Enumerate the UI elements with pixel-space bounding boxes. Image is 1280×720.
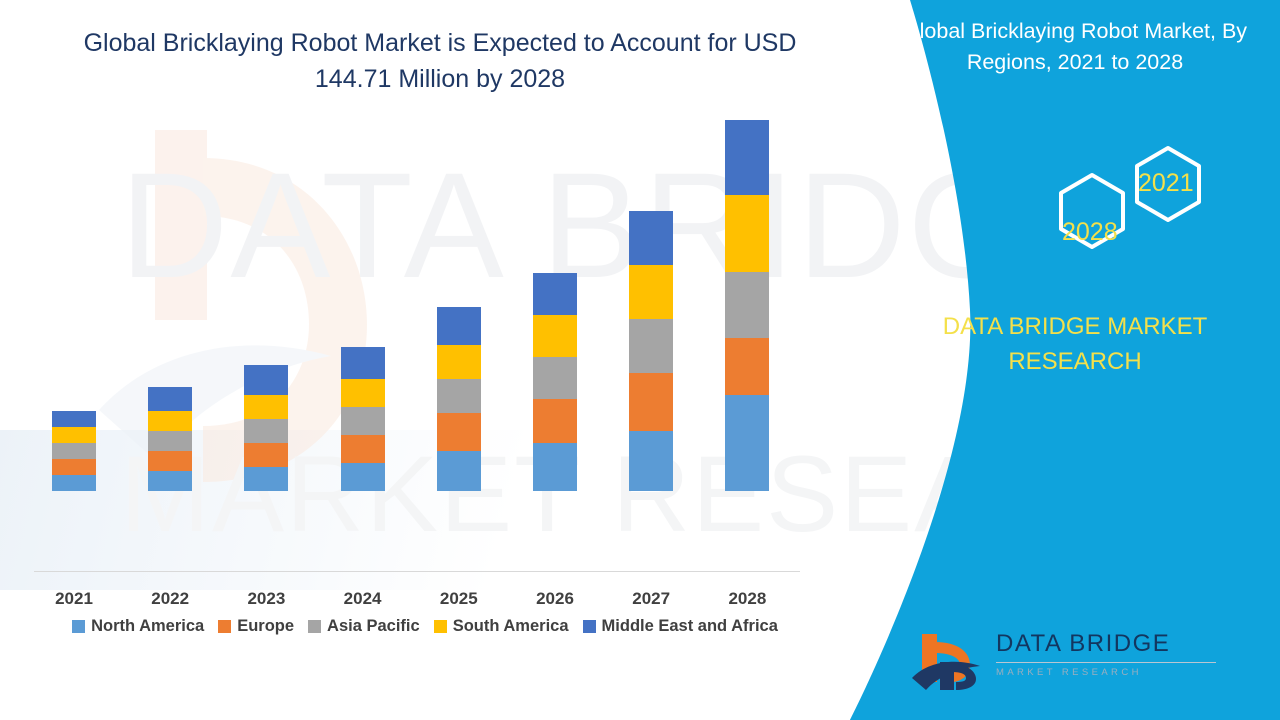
- segment-asia-pacific: [533, 357, 577, 399]
- segment-asia-pacific: [437, 379, 481, 413]
- segment-south-america: [244, 395, 288, 419]
- segment-south-america: [148, 411, 192, 431]
- x-label-2024: 2024: [318, 589, 408, 609]
- segment-asia-pacific: [244, 419, 288, 443]
- hex-label-2021: 2021: [1138, 169, 1194, 198]
- x-label-2023: 2023: [221, 589, 311, 609]
- segment-asia-pacific: [341, 407, 385, 435]
- segment-europe: [629, 373, 673, 431]
- segment-asia-pacific: [629, 319, 673, 373]
- segment-north-america: [244, 467, 288, 491]
- legend-item-south-america[interactable]: South America: [434, 617, 569, 636]
- brand-panel: Global Bricklaying Robot Market, By Regi…: [850, 0, 1280, 720]
- segment-middle-east-and-africa: [437, 307, 481, 345]
- segment-asia-pacific: [725, 272, 769, 338]
- segment-south-america: [52, 427, 96, 443]
- legend-item-north-america[interactable]: North America: [72, 617, 204, 636]
- bar-2027: [629, 211, 673, 491]
- data-bridge-logo-icon: [910, 628, 988, 694]
- segment-north-america: [52, 475, 96, 491]
- bar-2025: [437, 307, 481, 491]
- brand-line-1: DATA BRIDGE MARKET: [890, 310, 1260, 345]
- segment-middle-east-and-africa: [148, 387, 192, 411]
- legend-label: South America: [453, 617, 569, 636]
- hexagon-group: 2021 2028: [990, 140, 1250, 285]
- x-label-2026: 2026: [510, 589, 600, 609]
- legend-label: North America: [91, 617, 204, 636]
- x-label-2028: 2028: [702, 589, 792, 609]
- segment-middle-east-and-africa: [341, 347, 385, 379]
- x-label-2021: 2021: [29, 589, 119, 609]
- segment-europe: [341, 435, 385, 463]
- hex-label-2028: 2028: [1062, 218, 1118, 247]
- segment-middle-east-and-africa: [725, 120, 769, 195]
- legend-label: Middle East and Africa: [602, 617, 778, 636]
- logo-wordmark: DATA BRIDGE MARKET RESEARCH: [996, 632, 1216, 678]
- segment-south-america: [533, 315, 577, 357]
- legend-swatch-icon: [72, 620, 85, 633]
- x-axis-line: [34, 571, 800, 572]
- x-axis-labels: 20212022202320242025202620272028: [0, 589, 850, 615]
- segment-middle-east-and-africa: [52, 411, 96, 427]
- segment-north-america: [725, 395, 769, 491]
- legend-item-middle-east-and-africa[interactable]: Middle East and Africa: [583, 617, 778, 636]
- segment-europe: [437, 413, 481, 451]
- legend-label: Europe: [237, 617, 294, 636]
- stacked-bar-chart: 20212022202320242025202620272028 North A…: [0, 0, 850, 640]
- segment-europe: [148, 451, 192, 471]
- hexagon-outlines-icon: [990, 140, 1250, 285]
- bar-2024: [341, 347, 385, 491]
- segment-europe: [244, 443, 288, 467]
- chart-legend: North AmericaEuropeAsia PacificSouth Ame…: [0, 617, 850, 636]
- legend-item-europe[interactable]: Europe: [218, 617, 294, 636]
- legend-swatch-icon: [583, 620, 596, 633]
- segment-europe: [52, 459, 96, 475]
- legend-label: Asia Pacific: [327, 617, 420, 636]
- segment-middle-east-and-africa: [244, 365, 288, 395]
- legend-swatch-icon: [308, 620, 321, 633]
- segment-north-america: [629, 431, 673, 491]
- segment-south-america: [725, 195, 769, 272]
- segment-south-america: [341, 379, 385, 407]
- segment-north-america: [437, 451, 481, 491]
- bar-2026: [533, 273, 577, 491]
- logo-subtitle: MARKET RESEARCH: [996, 668, 1216, 678]
- x-label-2025: 2025: [414, 589, 504, 609]
- bar-2021: [52, 411, 96, 491]
- segment-asia-pacific: [148, 431, 192, 451]
- logo-title: DATA BRIDGE: [996, 632, 1216, 656]
- segment-north-america: [533, 443, 577, 491]
- bar-2028: [725, 120, 769, 491]
- bar-2023: [244, 365, 288, 491]
- segment-europe: [725, 338, 769, 395]
- segment-south-america: [629, 265, 673, 319]
- legend-item-asia-pacific[interactable]: Asia Pacific: [308, 617, 420, 636]
- segment-asia-pacific: [52, 443, 96, 459]
- segment-middle-east-and-africa: [629, 211, 673, 265]
- logo-divider: [996, 662, 1216, 663]
- brand-name: DATA BRIDGE MARKET RESEARCH: [890, 310, 1260, 380]
- segment-north-america: [341, 463, 385, 491]
- panel-title: Global Bricklaying Robot Market, By Regi…: [880, 16, 1270, 78]
- company-logo: DATA BRIDGE MARKET RESEARCH: [910, 628, 1220, 694]
- segment-north-america: [148, 471, 192, 491]
- legend-swatch-icon: [218, 620, 231, 633]
- segment-europe: [533, 399, 577, 443]
- segment-middle-east-and-africa: [533, 273, 577, 315]
- x-label-2022: 2022: [125, 589, 215, 609]
- segment-south-america: [437, 345, 481, 379]
- bar-2022: [148, 387, 192, 491]
- x-label-2027: 2027: [606, 589, 696, 609]
- legend-swatch-icon: [434, 620, 447, 633]
- brand-line-2: RESEARCH: [890, 345, 1260, 380]
- infographic-canvas: DATA BRIDGE MARKET RESEARCH Global Brick…: [0, 0, 1280, 720]
